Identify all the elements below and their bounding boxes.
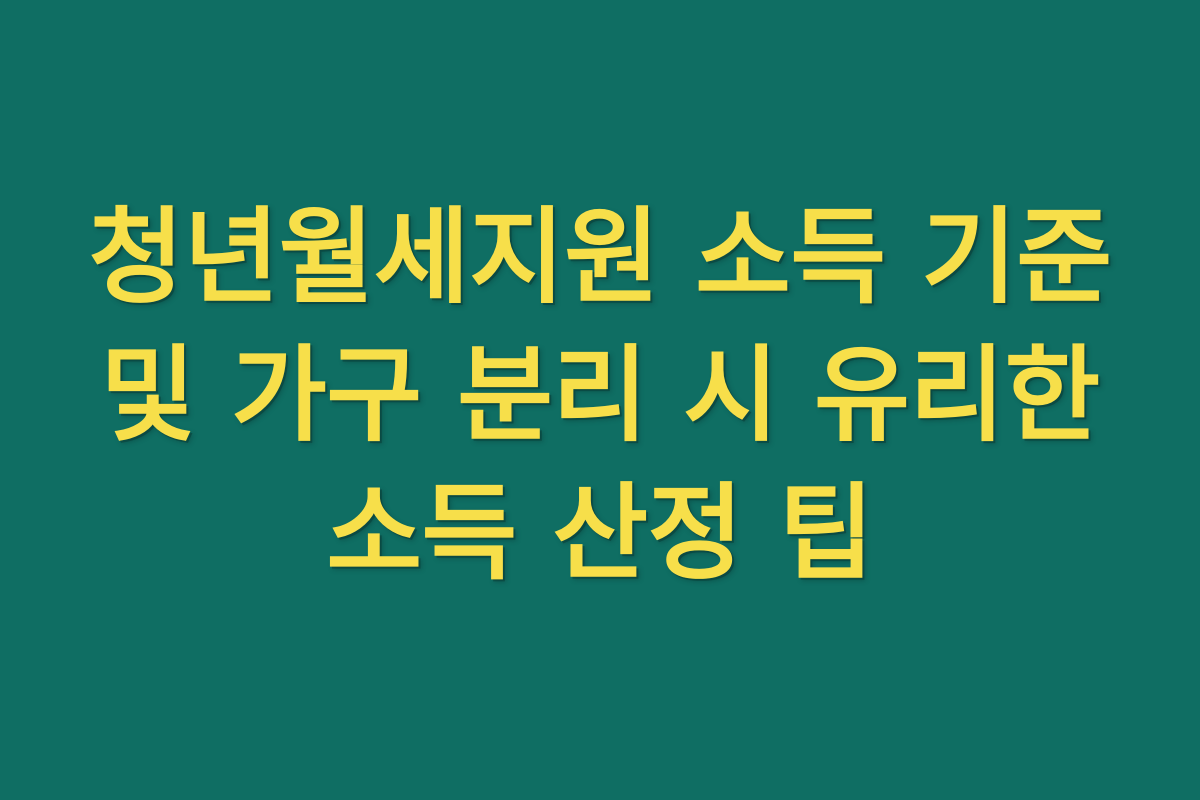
headline-line-1: 청년월세지원 소득 기준 bbox=[88, 188, 1111, 326]
headline-line-3: 소득 산정 팁 bbox=[326, 464, 873, 602]
thumbnail-card: 청년월세지원 소득 기준 및 가구 분리 시 유리한 소득 산정 팁 bbox=[0, 0, 1200, 800]
headline-block: 청년월세지원 소득 기준 및 가구 분리 시 유리한 소득 산정 팁 bbox=[40, 188, 1160, 602]
headline-line-2: 및 가구 분리 시 유리한 bbox=[100, 326, 1099, 464]
